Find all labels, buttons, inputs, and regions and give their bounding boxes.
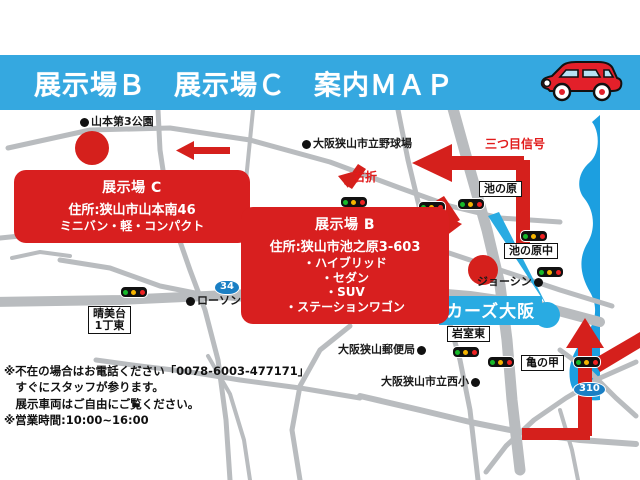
map-canvas[interactable]: 山本第3公園 大阪狭山市立野球場 ローソン ジョーシン 大阪狭山郵便局 大阪狭山… <box>0 110 640 480</box>
lake-label-sayamaike: 狭山池 <box>607 184 621 226</box>
traffic-signal-icon <box>457 198 485 210</box>
header-banner: 展示場Ｂ 展示場Ｃ 案内ＭＡＰ <box>0 55 640 110</box>
poi-post-office: 大阪狭山郵便局 <box>338 344 426 357</box>
poi-dot-icon <box>417 346 426 355</box>
poi-yamamoto-3rd-park: 山本第3公園 <box>80 116 154 129</box>
shop-label-cars-osaka[interactable]: カーズ大阪 <box>439 296 542 325</box>
notes-text: ※不在の場合はお電話ください「0078-6003-477171」 すぐにスタッフ… <box>4 363 309 428</box>
intersection-kame-no-ko: 亀の甲 <box>521 355 564 371</box>
callout-b-item: ・ステーションワゴン <box>251 300 439 315</box>
red-minivan-icon <box>538 58 624 108</box>
poi-dot-icon <box>302 140 311 149</box>
route-shield-310: 310 <box>573 382 606 397</box>
poi-dot-icon <box>80 118 89 127</box>
poi-lawson: ローソン <box>186 295 241 308</box>
callout-b-address: 住所:狭山市池之原3-603 <box>251 236 439 255</box>
callout-showroom-c[interactable]: 展示場 C 住所:狭山市山本南46 ミニバン・軽・コンパクト <box>14 170 250 243</box>
traffic-signal-icon <box>520 230 548 242</box>
note-turn-right: 右折 <box>353 168 377 185</box>
callout-b-title: 展示場 B <box>251 214 439 234</box>
callout-b-item: ・セダン <box>251 271 439 286</box>
callout-c-item: ミニバン・軽・コンパクト <box>24 219 240 234</box>
poi-joshin: ジョーシン <box>477 276 543 289</box>
note-third-signal: 三つ目信号 <box>485 135 545 152</box>
traffic-signal-icon <box>487 356 515 368</box>
poi-dot-icon <box>534 278 543 287</box>
intersection-ikenohara-naka: 池の原中 <box>504 243 558 259</box>
callout-b-item: ・ハイブリッド <box>251 256 439 271</box>
callout-b-item: ・SUV <box>251 285 439 300</box>
traffic-signal-icon <box>120 286 148 298</box>
map-page: 展示場Ｂ 展示場Ｃ 案内ＭＡＰ <box>0 0 640 480</box>
showroom-c-marker <box>75 131 109 165</box>
page-title: 展示場Ｂ 展示場Ｃ 案内ＭＡＰ <box>34 63 454 102</box>
intersection-ikenohara: 池の原 <box>479 181 522 197</box>
poi-dot-icon <box>471 378 480 387</box>
poi-dot-icon <box>186 297 195 306</box>
poi-baseball-stadium: 大阪狭山市立野球場 <box>302 138 412 151</box>
intersection-harumidai-1chome-higashi: 晴美台 1丁東 <box>88 306 131 334</box>
traffic-signal-icon <box>452 346 480 358</box>
callout-c-address: 住所:狭山市山本南46 <box>24 199 240 218</box>
poi-nishi-elementary: 大阪狭山市立西小 <box>381 376 480 389</box>
callout-c-title: 展示場 C <box>24 177 240 197</box>
route-shield-34: 34 <box>214 280 240 295</box>
traffic-signal-icon <box>573 356 601 368</box>
intersection-iwamuro-higashi: 岩室東 <box>447 326 490 342</box>
traffic-signal-icon <box>536 266 564 278</box>
callout-showroom-b[interactable]: 展示場 B 住所:狭山市池之原3-603 ・ハイブリッド ・セダン ・SUV ・… <box>241 207 449 324</box>
